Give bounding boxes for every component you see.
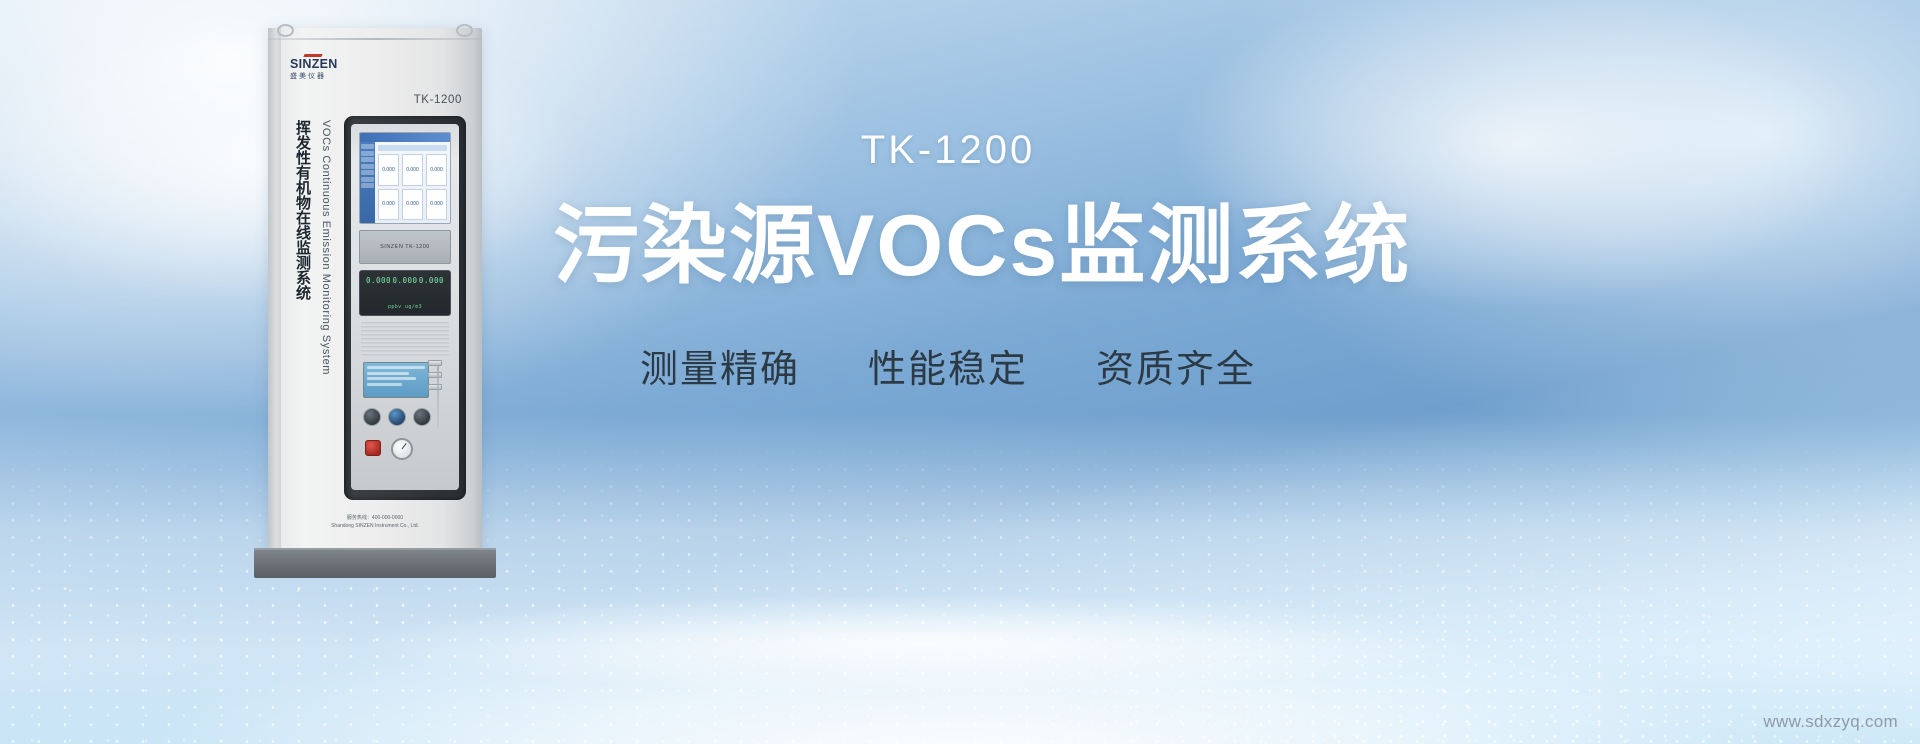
banner-copy: TK-1200 污染源VOCs监测系统 测量精确 性能稳定 资质齐全	[553, 128, 1343, 393]
cabinet-door-panel: 0.000 0.000 0.000 0.000 0.000 0.000	[351, 124, 459, 490]
hmi-content: 0.000 0.000 0.000 0.000 0.000 0.000	[375, 142, 450, 223]
hmi-reading-cell: 0.000	[378, 154, 399, 186]
mesh-horizon-glow	[0, 584, 1920, 704]
site-watermark: www.sdxzyq.com	[1763, 712, 1898, 732]
hmi-reading-cell: 0.000	[426, 154, 447, 186]
instrument-label-strip: SINZEN TK-1200	[359, 230, 451, 264]
gas-fitting-icon	[428, 372, 442, 378]
cabinet-footer-line-2: Shandong SINZEN Instrument Co., Ltd.	[268, 523, 482, 531]
brand-name: SINZEN	[290, 58, 344, 71]
cabinet-model-tag: TK-1200	[414, 94, 462, 106]
lcd-line	[367, 377, 416, 380]
cabinet-vertical-text-cn: 挥发性有机物在线监测系统	[292, 120, 314, 410]
hmi-reading-grid: 0.000 0.000 0.000 0.000 0.000 0.000	[378, 154, 447, 220]
hmi-nav-item[interactable]	[361, 151, 374, 156]
lcd-line	[367, 366, 425, 369]
readout-value: 0.000	[366, 276, 391, 285]
hmi-titlebar	[360, 133, 450, 142]
cabinet-left-edge	[268, 28, 281, 552]
feature-item-accuracy: 测量精确	[640, 338, 800, 393]
cabinet-top-seam	[268, 38, 482, 40]
feature-item-stability: 性能稳定	[868, 338, 1028, 393]
hmi-touchscreen[interactable]: 0.000 0.000 0.000 0.000 0.000 0.000	[359, 132, 451, 224]
banner-headline: 污染源VOCs监测系统	[553, 198, 1343, 294]
cabinet-base-plinth	[254, 550, 496, 578]
brand-accent-bar-icon	[303, 54, 322, 57]
readout-units: ppbv ug/m3	[366, 304, 444, 310]
hmi-nav-item[interactable]	[361, 164, 374, 169]
hmi-reading-cell: 0.000	[378, 189, 399, 221]
hmi-reading-cell: 0.000	[402, 189, 423, 221]
instrument-label-text: SINZEN TK-1200	[380, 244, 430, 250]
feature-item-certification: 资质齐全	[1096, 338, 1256, 393]
hmi-sidebar[interactable]	[360, 142, 375, 223]
digital-readout-display: 0.000 0.000 0.000 ppbv ug/m3	[359, 270, 451, 316]
emergency-stop-button[interactable]	[365, 440, 381, 456]
hmi-nav-item[interactable]	[361, 183, 374, 188]
lcd-line	[367, 372, 409, 375]
lifting-eyebolt-right-icon	[456, 24, 473, 37]
gas-fitting-icon	[428, 360, 442, 366]
gas-fitting-icon	[428, 384, 442, 390]
controller-lcd-panel	[363, 362, 429, 398]
hmi-nav-item[interactable]	[361, 177, 374, 182]
gas-fittings	[421, 360, 449, 430]
cabinet-footer-text: 服务热线：400-000-0000 Shandong SINZEN Instru…	[268, 515, 482, 530]
pressure-gauge-icon	[391, 438, 413, 460]
banner-model-number: TK-1200	[553, 128, 1343, 172]
sample-tube	[437, 366, 439, 428]
cabinet-vertical-text-en: VOCs Continuous Emission Monitoring Syst…	[320, 120, 332, 370]
digital-readout-row: 0.000 0.000 0.000	[366, 276, 444, 285]
hmi-body: 0.000 0.000 0.000 0.000 0.000 0.000	[360, 142, 450, 223]
lifting-eyebolt-left-icon	[277, 24, 294, 37]
hmi-nav-item[interactable]	[361, 157, 374, 162]
readout-value: 0.000	[419, 276, 444, 285]
feature-list: 测量精确 性能稳定 资质齐全	[553, 338, 1343, 393]
analyzer-cabinet: SINZEN 盛美仪器 TK-1200 挥发性有机物在线监测系统 VOCs Co…	[268, 28, 482, 552]
readout-value: 0.000	[392, 276, 417, 285]
cabinet-footer-line-1: 服务热线：400-000-0000	[268, 515, 482, 523]
brand-name-cn: 盛美仪器	[290, 73, 344, 80]
product-banner: SINZEN 盛美仪器 TK-1200 挥发性有机物在线监测系统 VOCs Co…	[0, 0, 1920, 744]
hmi-content-header	[378, 145, 447, 151]
lcd-line	[367, 383, 402, 386]
cabinet-door-window: 0.000 0.000 0.000 0.000 0.000 0.000	[344, 116, 466, 500]
control-knob-blue-icon[interactable]	[388, 408, 406, 426]
hmi-reading-cell: 0.000	[426, 189, 447, 221]
brand-logo: SINZEN 盛美仪器	[290, 54, 344, 80]
hmi-reading-cell: 0.000	[402, 154, 423, 186]
control-knob-icon[interactable]	[363, 408, 381, 426]
hmi-nav-item[interactable]	[361, 144, 374, 149]
cabinet-body: SINZEN 盛美仪器 TK-1200 挥发性有机物在线监测系统 VOCs Co…	[268, 28, 482, 552]
hmi-nav-item[interactable]	[361, 170, 374, 175]
ventilation-louvers	[361, 322, 449, 356]
